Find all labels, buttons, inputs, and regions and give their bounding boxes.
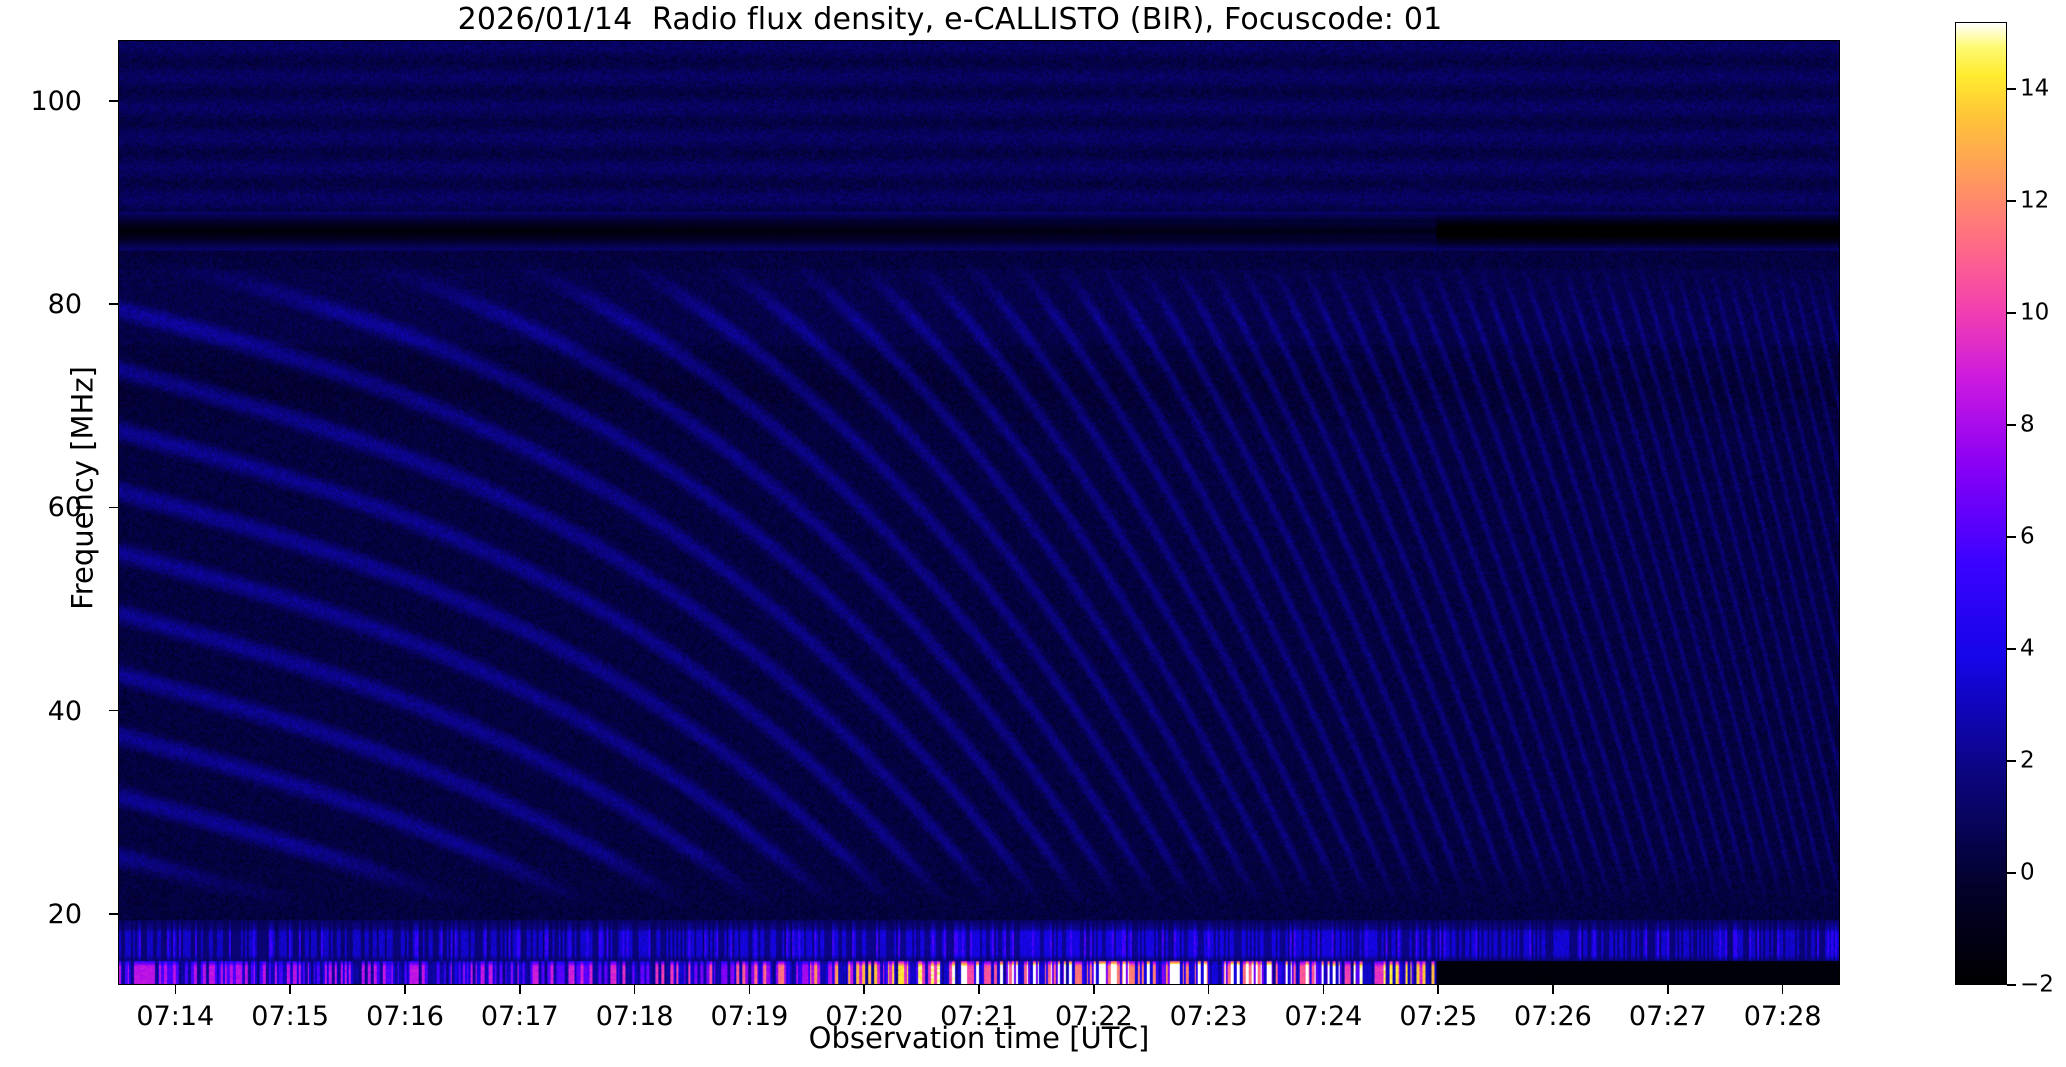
x-axis-tickmark [1093, 985, 1095, 994]
colorbar-ticklabels: −202468101214 [2007, 22, 2066, 985]
x-axis-tickmark [404, 985, 406, 994]
x-axis-tickmark [175, 985, 177, 994]
x-axis-tickmark [1208, 985, 1210, 994]
colorbar-ticklabel: 14 [2020, 78, 2049, 101]
colorbar-tickmark [2007, 88, 2016, 90]
colorbar-tickmark [2007, 536, 2016, 538]
colorbar-ticklabel: 2 [2020, 750, 2035, 773]
x-axis-tickmark [1782, 985, 1784, 994]
colorbar-ticklabel: 12 [2020, 190, 2049, 213]
colorbar-ticklabel: 10 [2020, 302, 2049, 325]
colorbar-gradient [1956, 23, 2006, 984]
x-axis-tickmark [1437, 985, 1439, 994]
x-axis-tickmark [289, 985, 291, 994]
y-axis-tickmark [109, 710, 118, 712]
colorbar-tickmark [2007, 200, 2016, 202]
spectrogram-image [119, 41, 1839, 984]
colorbar-ticklabel: 6 [2020, 526, 2035, 549]
x-axis-tickmark [634, 985, 636, 994]
colorbar-tickmark [2007, 984, 2016, 986]
colorbar-tickmark [2007, 648, 2016, 650]
y-axis-label: Frequency [MHz] [67, 16, 99, 961]
x-axis-tickmark [1552, 985, 1554, 994]
colorbar-tickmark [2007, 312, 2016, 314]
figure-title: 2026/01/14 Radio flux density, e-CALLIST… [0, 2, 1900, 38]
x-axis-tickmark [519, 985, 521, 994]
colorbar-ticklabel: 8 [2020, 414, 2035, 437]
x-axis-label: Observation time [UTC] [118, 1022, 1840, 1054]
figure-root: 2026/01/14 Radio flux density, e-CALLIST… [0, 0, 2066, 1067]
y-axis-tickmark [109, 303, 118, 305]
x-axis-tickmark [1667, 985, 1669, 994]
spectrogram-plot-area [118, 40, 1840, 985]
x-axis-tickmark [863, 985, 865, 994]
colorbar-tickmark [2007, 760, 2016, 762]
colorbar-ticklabel: −2 [2020, 974, 2054, 997]
colorbar-ticklabel: 0 [2020, 862, 2035, 885]
x-axis-tickmark [978, 985, 980, 994]
colorbar-ticklabel: 4 [2020, 638, 2035, 661]
x-axis-tickmark [749, 985, 751, 994]
colorbar-tickmark [2007, 872, 2016, 874]
x-axis-tickmark [1323, 985, 1325, 994]
y-axis-tickmark [109, 913, 118, 915]
colorbar [1955, 22, 2007, 985]
y-axis-tickmark [109, 100, 118, 102]
y-axis-tickmark [109, 507, 118, 509]
colorbar-tickmark [2007, 424, 2016, 426]
